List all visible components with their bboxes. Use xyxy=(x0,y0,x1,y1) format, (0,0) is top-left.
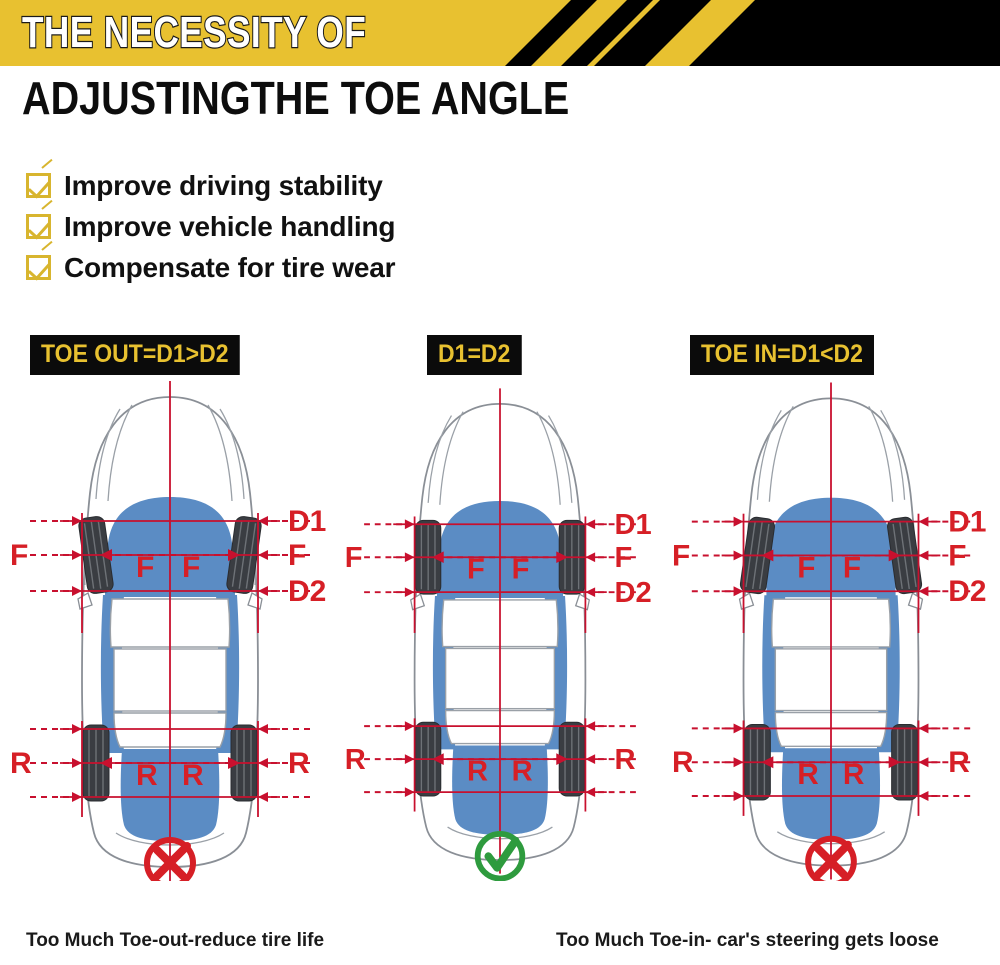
label-center-front-right: F xyxy=(843,551,861,584)
label-center-front-left: F xyxy=(467,554,485,586)
list-item: Improve driving stability xyxy=(26,165,395,206)
label-front-right: F xyxy=(288,539,306,572)
page-title-line2: ADJUSTINGTHE TOE ANGLE xyxy=(22,72,569,124)
toe-out-diagram: F D1 F D2 R R F F R R xyxy=(0,381,340,851)
label-d2: D2 xyxy=(288,575,326,608)
label-rear-left: R xyxy=(345,744,366,776)
neutral-tag-wrap: D1=D2 xyxy=(335,335,665,381)
label-front-right: F xyxy=(948,539,966,572)
benefits-checklist: Improve driving stability Improve vehicl… xyxy=(26,165,395,288)
label-d2: D2 xyxy=(948,575,986,608)
label-rear-right: R xyxy=(948,746,970,779)
caption-toe-in: Too Much Toe-in- car's steering gets loo… xyxy=(556,930,939,952)
page-title-line1: THE NECESSITY OF xyxy=(22,9,366,57)
label-rear-right: R xyxy=(288,747,310,780)
infographic-page: THE NECESSITY OF ADJUSTINGTHE TOE ANGLE … xyxy=(0,0,1000,965)
toe-in-column: TOE IN=D1<D2 xyxy=(662,335,1000,851)
label-rear-left: R xyxy=(10,747,32,780)
toe-in-tag-wrap: TOE IN=D1<D2 xyxy=(662,335,1000,381)
car-toe-out-svg: F D1 F D2 R R F F R R xyxy=(0,381,340,881)
toe-out-column: TOE OUT=D1>D2 xyxy=(0,335,340,851)
caption-toe-out: Too Much Toe-out-reduce tire life xyxy=(26,930,324,952)
label-front-left: F xyxy=(672,539,690,572)
toe-out-tag: TOE OUT=D1>D2 xyxy=(30,335,240,375)
toe-in-tag: TOE IN=D1<D2 xyxy=(690,335,874,375)
label-center-rear-left: R xyxy=(797,758,819,791)
checklist-label: Improve driving stability xyxy=(64,170,383,202)
label-front-left: F xyxy=(10,539,28,572)
label-d1: D1 xyxy=(948,506,986,539)
label-center-front-right: F xyxy=(182,551,200,584)
label-center-front-left: F xyxy=(797,551,815,584)
neutral-tag: D1=D2 xyxy=(427,335,521,375)
label-rear-left: R xyxy=(672,746,694,779)
label-front-left: F xyxy=(345,542,363,574)
label-center-rear-left: R xyxy=(467,755,488,787)
list-item: Improve vehicle handling xyxy=(26,206,395,247)
checkbox-checked-icon xyxy=(26,214,51,239)
label-center-front-left: F xyxy=(136,551,154,584)
label-center-rear-right: R xyxy=(512,755,533,787)
neutral-column: D1=D2 xyxy=(335,335,665,851)
toe-in-diagram: F D1 F D2 R R F F R R xyxy=(662,381,1000,851)
label-d2: D2 xyxy=(615,577,652,609)
label-rear-right: R xyxy=(615,744,636,776)
label-center-rear-right: R xyxy=(843,758,865,791)
label-center-front-right: F xyxy=(512,554,530,586)
label-front-right: F xyxy=(615,542,633,574)
checkbox-checked-icon xyxy=(26,255,51,280)
label-center-rear-right: R xyxy=(182,759,204,792)
checkbox-checked-icon xyxy=(26,173,51,198)
car-toe-in-svg: F D1 F D2 R R F F R R xyxy=(662,381,1000,881)
label-d1: D1 xyxy=(288,505,326,538)
label-d1: D1 xyxy=(615,509,652,541)
label-center-rear-left: R xyxy=(136,759,158,792)
checklist-label: Compensate for tire wear xyxy=(64,252,395,284)
car-parallel-svg: F D1 F D2 R R F F R R xyxy=(335,381,665,881)
neutral-diagram: F D1 F D2 R R F F R R xyxy=(335,381,665,851)
toe-out-tag-wrap: TOE OUT=D1>D2 xyxy=(0,335,340,381)
checklist-label: Improve vehicle handling xyxy=(64,211,395,243)
list-item: Compensate for tire wear xyxy=(26,247,395,288)
